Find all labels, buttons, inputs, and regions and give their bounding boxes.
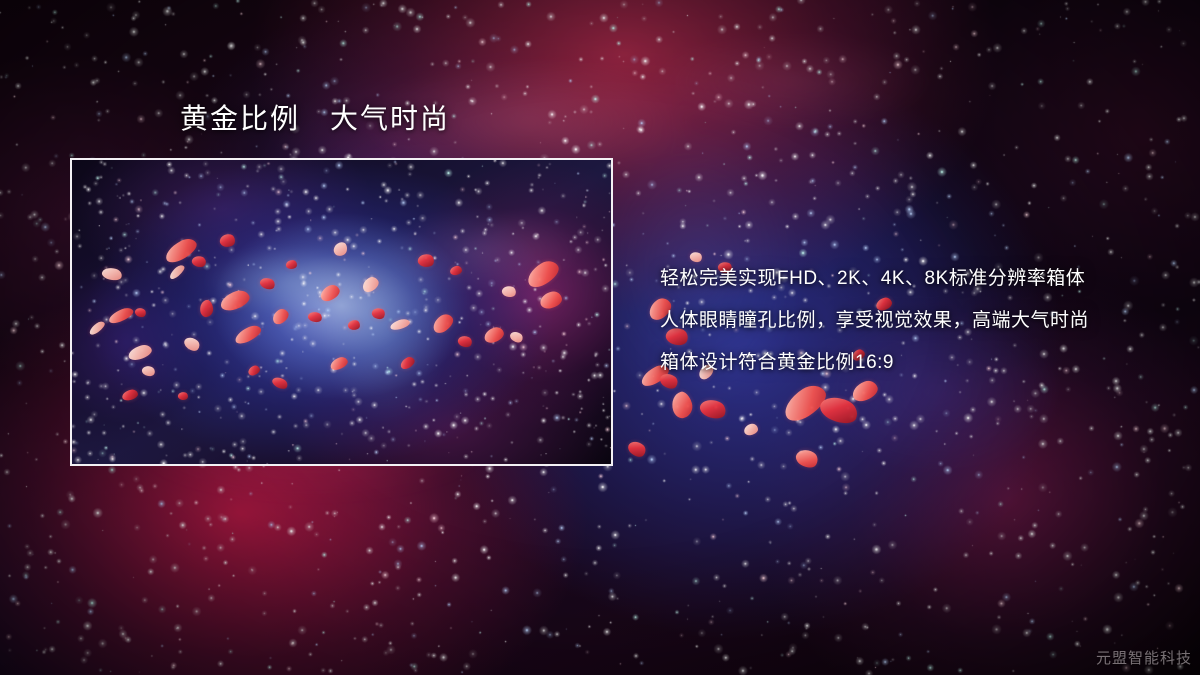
body-line-2: 人体眼睛瞳孔比例，享受视觉效果，高端大气时尚 [660, 300, 1160, 342]
body-line-1: 轻松完美实现FHD、2K、4K、8K标准分辨率箱体 [660, 258, 1160, 300]
watermark-label: 元盟智能科技 [1096, 647, 1192, 668]
inner-starfield [72, 160, 611, 464]
body-line-3: 箱体设计符合黄金比例16:9 [660, 342, 1160, 384]
presentation-slide: 黄金比例 大气时尚 轻松完美实现FHD、2K、4K、8K标准分辨率箱体 人体眼睛… [0, 0, 1200, 675]
body-text-block: 轻松完美实现FHD、2K、4K、8K标准分辨率箱体 人体眼睛瞳孔比例，享受视觉效… [660, 258, 1160, 384]
page-title: 黄金比例 大气时尚 [180, 103, 450, 135]
galaxy-petals-photo-frame [70, 158, 613, 466]
